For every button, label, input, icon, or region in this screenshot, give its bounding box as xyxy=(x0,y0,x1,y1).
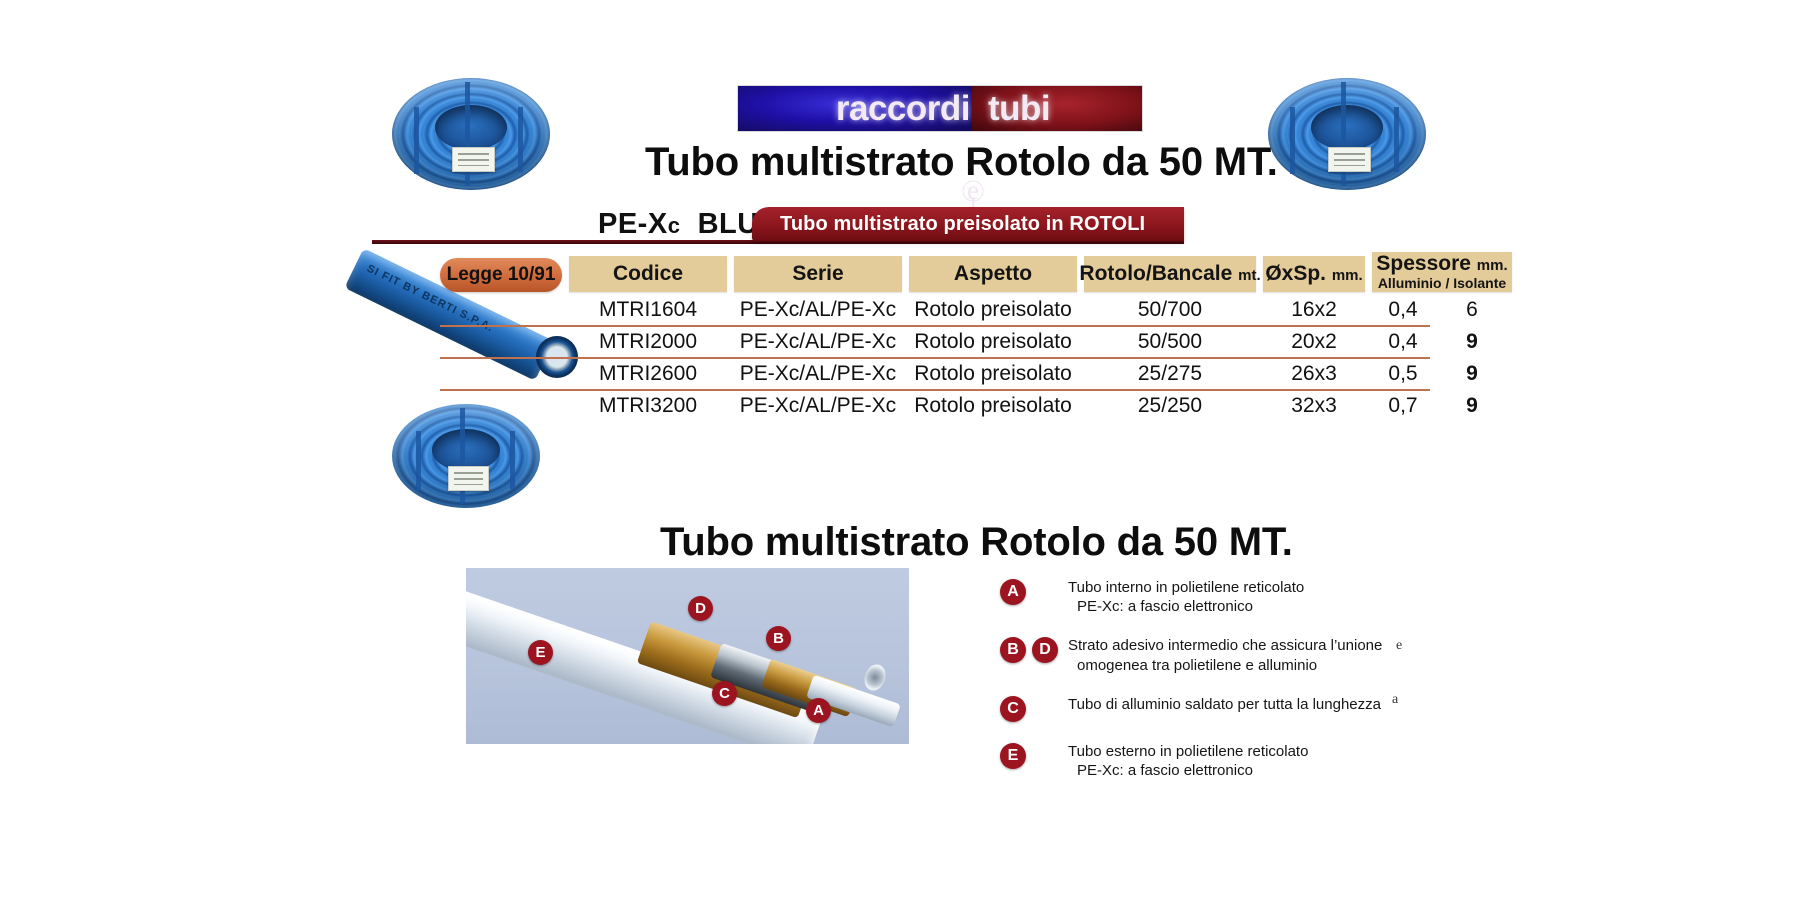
coil-strap xyxy=(414,107,419,174)
legend-markers: BD xyxy=(1000,636,1068,663)
cell-rotolo: 25/250 xyxy=(1084,394,1256,418)
table-body: MTRI1604PE-Xc/AL/PE-XcRotolo preisolato5… xyxy=(440,295,1430,421)
legend-text: Tubo di alluminio saldato per tutta la l… xyxy=(1068,695,1381,714)
column-header-spessore: Spessore mm. Alluminio / Isolante xyxy=(1372,252,1512,292)
cell-serie: PE-Xc/AL/PE-Xc xyxy=(734,330,902,354)
cell-serie: PE-Xc/AL/PE-Xc xyxy=(734,394,902,418)
column-header-codice: Codice xyxy=(569,256,727,292)
column-header-serie-label: Serie xyxy=(792,263,843,285)
logo-left-panel: raccordi xyxy=(738,86,972,131)
column-header-spessore-label: Spessore xyxy=(1376,252,1471,275)
stray-glyph-a: a xyxy=(1392,692,1398,708)
legend-markers: E xyxy=(1000,742,1068,769)
cell-alluminio: 0,4 xyxy=(1372,330,1434,354)
cell-rotolo: 50/700 xyxy=(1084,298,1256,322)
column-header-spessore-unit: mm. xyxy=(1477,257,1508,274)
legend-text: Strato adesivo intermedio che assicura l… xyxy=(1068,636,1382,674)
product-color-text: BLU xyxy=(698,208,759,240)
table-header-row: Legge 10/91 Codice Serie Aspetto Rotolo/… xyxy=(440,252,1430,292)
cell-dxsp: 20x2 xyxy=(1263,330,1365,354)
pipe-coil-photo-top-left xyxy=(392,78,550,190)
cell-alluminio: 0,7 xyxy=(1372,394,1434,418)
coil-label xyxy=(1328,147,1371,171)
diagram-callout-e: E xyxy=(528,640,553,665)
page-title-middle: Tubo multistrato Rotolo da 50 MT. xyxy=(660,520,1293,565)
legend-markers: A xyxy=(1000,578,1068,605)
specification-table: Legge 10/91 Codice Serie Aspetto Rotolo/… xyxy=(440,252,1430,421)
column-header-rotolo-unit: mt. xyxy=(1238,267,1261,284)
logo-word-tubi: tubi xyxy=(988,91,1050,126)
cell-dxsp: 26x3 xyxy=(1263,362,1365,386)
cell-rotolo: 50/500 xyxy=(1084,330,1256,354)
column-header-aspetto: Aspetto xyxy=(909,256,1077,292)
coil-strap xyxy=(416,431,421,491)
legend-item: ATubo interno in polietilene reticolatoP… xyxy=(1000,578,1400,616)
coil-label xyxy=(452,147,495,171)
cell-dxsp: 16x2 xyxy=(1263,298,1365,322)
column-header-serie: Serie xyxy=(734,256,902,292)
diagram-callout-d: D xyxy=(688,596,713,621)
coil-center-hole xyxy=(432,429,500,471)
cell-aspetto: Rotolo preisolato xyxy=(909,362,1077,386)
pipe-inner-end-opening xyxy=(861,661,889,693)
coil-strap xyxy=(510,431,515,489)
legend-bullet-c: C xyxy=(1000,696,1026,722)
cell-codice: MTRI2000 xyxy=(569,330,727,354)
legend-item: CTubo di alluminio saldato per tutta la … xyxy=(1000,695,1400,722)
column-header-aspetto-label: Aspetto xyxy=(954,263,1032,285)
table-row: MTRI2000PE-Xc/AL/PE-XcRotolo preisolato5… xyxy=(440,325,1430,357)
legend-text-line2: PE-Xc: a fascio elettronico xyxy=(1068,597,1304,616)
coil-center-hole xyxy=(435,105,508,150)
column-header-dxsp-label: ØxSp. xyxy=(1265,262,1326,285)
legend-item: BDStrato adesivo intermedio che assicura… xyxy=(1000,636,1400,674)
legend-bullet-e: E xyxy=(1000,743,1026,769)
coil-strap xyxy=(1290,107,1295,174)
stray-glyph-e: e xyxy=(1396,638,1402,654)
column-header-diameter-thickness: ØxSp. mm. xyxy=(1263,256,1365,292)
cell-aspetto: Rotolo preisolato xyxy=(909,298,1077,322)
legend-item: ETubo esterno in polietilene reticolatoP… xyxy=(1000,742,1400,780)
column-header-rotolo-bancale: Rotolo/Bancale mt. xyxy=(1084,256,1256,292)
cell-isolante: 9 xyxy=(1441,330,1503,354)
cell-alluminio: 0,5 xyxy=(1372,362,1434,386)
cell-isolante: 6 xyxy=(1441,298,1503,322)
section-banner: Tubo multistrato preisolato in ROTOLI xyxy=(752,207,1184,241)
legend-text-line1: Strato adesivo intermedio che assicura l… xyxy=(1068,637,1382,654)
column-header-rotolo-label: Rotolo/Bancale xyxy=(1079,262,1232,285)
diagram-callout-c: C xyxy=(712,681,737,706)
coil-strap xyxy=(1394,107,1399,172)
table-row: MTRI2600PE-Xc/AL/PE-XcRotolo preisolato2… xyxy=(440,357,1430,389)
cell-serie: PE-Xc/AL/PE-Xc xyxy=(734,362,902,386)
legend-text-line1: Tubo esterno in polietilene reticolato xyxy=(1068,743,1308,760)
brand-logo: raccordi tubi e xyxy=(738,86,1142,131)
cell-isolante: 9 xyxy=(1441,394,1503,418)
product-family-subscript: c xyxy=(668,213,681,238)
cell-codice: MTRI2600 xyxy=(569,362,727,386)
legend-bullet-b: B xyxy=(1000,637,1026,663)
legend-text: Tubo esterno in polietilene reticolatoPE… xyxy=(1068,742,1308,780)
legend-text-line1: Tubo di alluminio saldato per tutta la l… xyxy=(1068,696,1381,713)
diagram-legend: ATubo interno in polietilene reticolatoP… xyxy=(1000,578,1400,800)
cell-isolante: 9 xyxy=(1441,362,1503,386)
column-header-spessore-sublabel: Alluminio / Isolante xyxy=(1378,276,1506,291)
logo-right-panel: tubi xyxy=(972,86,1142,131)
table-row: MTRI3200PE-Xc/AL/PE-XcRotolo preisolato2… xyxy=(440,389,1430,421)
legge-badge: Legge 10/91 xyxy=(440,258,562,292)
legend-text-line2: omogenea tra polietilene e alluminio xyxy=(1068,656,1382,675)
legend-bullet-a: A xyxy=(1000,579,1026,605)
cell-aspetto: Rotolo preisolato xyxy=(909,330,1077,354)
coil-center-hole xyxy=(1311,105,1384,150)
diagram-callout-a: A xyxy=(806,698,831,723)
legend-bullet-d: D xyxy=(1032,637,1058,663)
product-family-text: PE-X xyxy=(598,208,668,240)
coil-label xyxy=(448,466,488,491)
table-row: MTRI1604PE-Xc/AL/PE-XcRotolo preisolato5… xyxy=(440,295,1430,325)
coil-strap xyxy=(518,107,523,172)
pipe-cutaway-diagram: E D B C A xyxy=(466,568,909,744)
logo-word-raccordi: raccordi xyxy=(836,91,970,126)
cell-alluminio: 0,4 xyxy=(1372,298,1434,322)
cell-dxsp: 32x3 xyxy=(1263,394,1365,418)
cell-codice: MTRI3200 xyxy=(569,394,727,418)
cell-aspetto: Rotolo preisolato xyxy=(909,394,1077,418)
cell-serie: PE-Xc/AL/PE-Xc xyxy=(734,298,902,322)
column-header-codice-label: Codice xyxy=(613,263,683,285)
cell-rotolo: 25/275 xyxy=(1084,362,1256,386)
catalog-page: raccordi tubi e Tubo multistrato Rotolo … xyxy=(0,0,1800,900)
legend-text-line2: PE-Xc: a fascio elettronico xyxy=(1068,761,1308,780)
diagram-callout-b: B xyxy=(766,626,791,651)
product-family-label: PE-Xc BLU xyxy=(598,208,759,241)
cell-codice: MTRI1604 xyxy=(569,298,727,322)
column-header-dxsp-unit: mm. xyxy=(1332,267,1363,284)
section-banner-text: Tubo multistrato preisolato in ROTOLI xyxy=(752,213,1145,236)
page-title-top: Tubo multistrato Rotolo da 50 MT. xyxy=(645,140,1278,185)
legend-text: Tubo interno in polietilene reticolatoPE… xyxy=(1068,578,1304,616)
pipe-coil-photo-top-right xyxy=(1268,78,1426,190)
legend-markers: C xyxy=(1000,695,1068,722)
legend-text-line1: Tubo interno in polietilene reticolato xyxy=(1068,579,1304,596)
